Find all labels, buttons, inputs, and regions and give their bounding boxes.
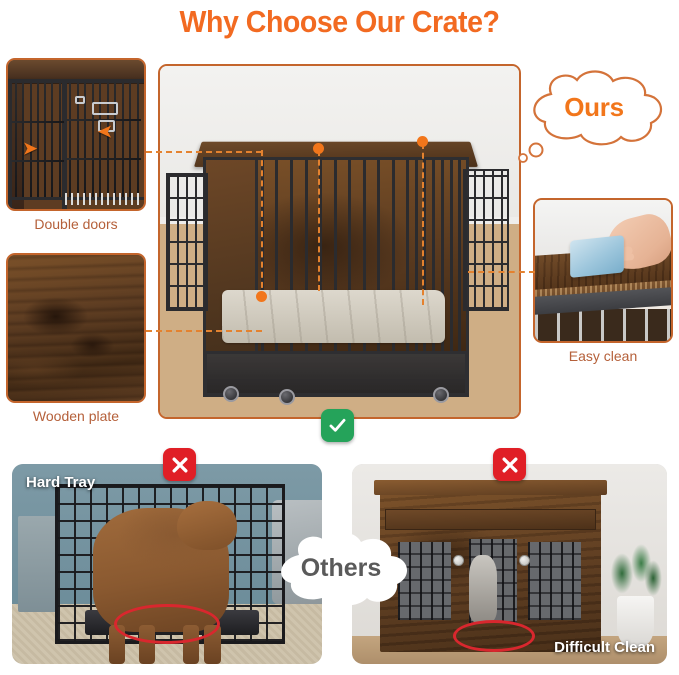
check-icon <box>327 415 348 436</box>
callout-line-right <box>422 143 424 304</box>
plant-leaves-prop <box>604 536 664 604</box>
callout-line-mid <box>318 150 320 290</box>
highlight-ellipse-hard-tray <box>114 604 219 644</box>
cabinet-knob <box>519 555 530 566</box>
dog-head <box>177 501 237 551</box>
cross-icon <box>170 455 190 475</box>
main-product-photo <box>160 66 519 417</box>
door-latch-icon <box>92 102 118 115</box>
bubble-others: Others <box>265 528 417 608</box>
infographic-root: Why Choose Our Crate? <box>0 0 679 675</box>
caption-easy-clean: Easy clean <box>533 348 673 364</box>
cabinet-knob <box>453 555 464 566</box>
caster-wheel <box>223 386 239 402</box>
wooden-plate-photo <box>8 255 144 401</box>
check-badge <box>321 409 354 442</box>
crate-cushion <box>222 290 445 343</box>
arrow-left-door-icon: ➤ <box>23 140 37 157</box>
bubble-ours: Ours <box>515 68 673 146</box>
feature-panel-easy-clean <box>533 198 673 343</box>
callout-dot-left <box>256 291 267 302</box>
cleaning-cloth-icon <box>571 235 625 278</box>
cross-icon <box>500 455 520 475</box>
dog-inside-cabinet <box>469 555 498 623</box>
crate-door-left-open <box>166 173 209 311</box>
bubble-ours-trail-dots-icon <box>516 142 546 168</box>
shelf-prop <box>18 516 58 612</box>
feature-panel-wooden-plate <box>6 253 146 403</box>
main-product-panel <box>158 64 521 419</box>
feature-panel-double-doors: ➤ ➤ <box>6 58 146 211</box>
label-difficult-clean: Difficult Clean <box>554 639 655 656</box>
crate-stand <box>203 354 469 397</box>
connector-wooden-plate <box>146 330 262 332</box>
easy-clean-photo <box>535 200 671 341</box>
bubble-others-label: Others <box>301 554 382 583</box>
highlight-ellipse-difficult-clean <box>453 620 535 652</box>
page-title: Why Choose Our Crate? <box>27 4 652 40</box>
caption-wooden-plate: Wooden plate <box>6 408 146 424</box>
arrow-right-door-icon: ➤ <box>98 123 112 140</box>
crate-illustration <box>203 157 469 354</box>
door-latch-hook-icon <box>75 96 85 104</box>
connector-easy-clean <box>468 271 535 273</box>
cabinet-mesh-right <box>528 542 581 620</box>
cross-badge-difficult-clean <box>493 448 526 481</box>
label-hard-tray: Hard Tray <box>26 474 95 491</box>
crate-door-right-open <box>463 169 508 311</box>
bubble-ours-label: Ours <box>564 92 623 123</box>
caption-double-doors: Double doors <box>6 216 146 232</box>
callout-line-left <box>261 150 263 297</box>
cross-badge-hard-tray <box>163 448 196 481</box>
double-doors-photo: ➤ ➤ <box>8 60 144 209</box>
connector-double-doors <box>146 151 262 153</box>
